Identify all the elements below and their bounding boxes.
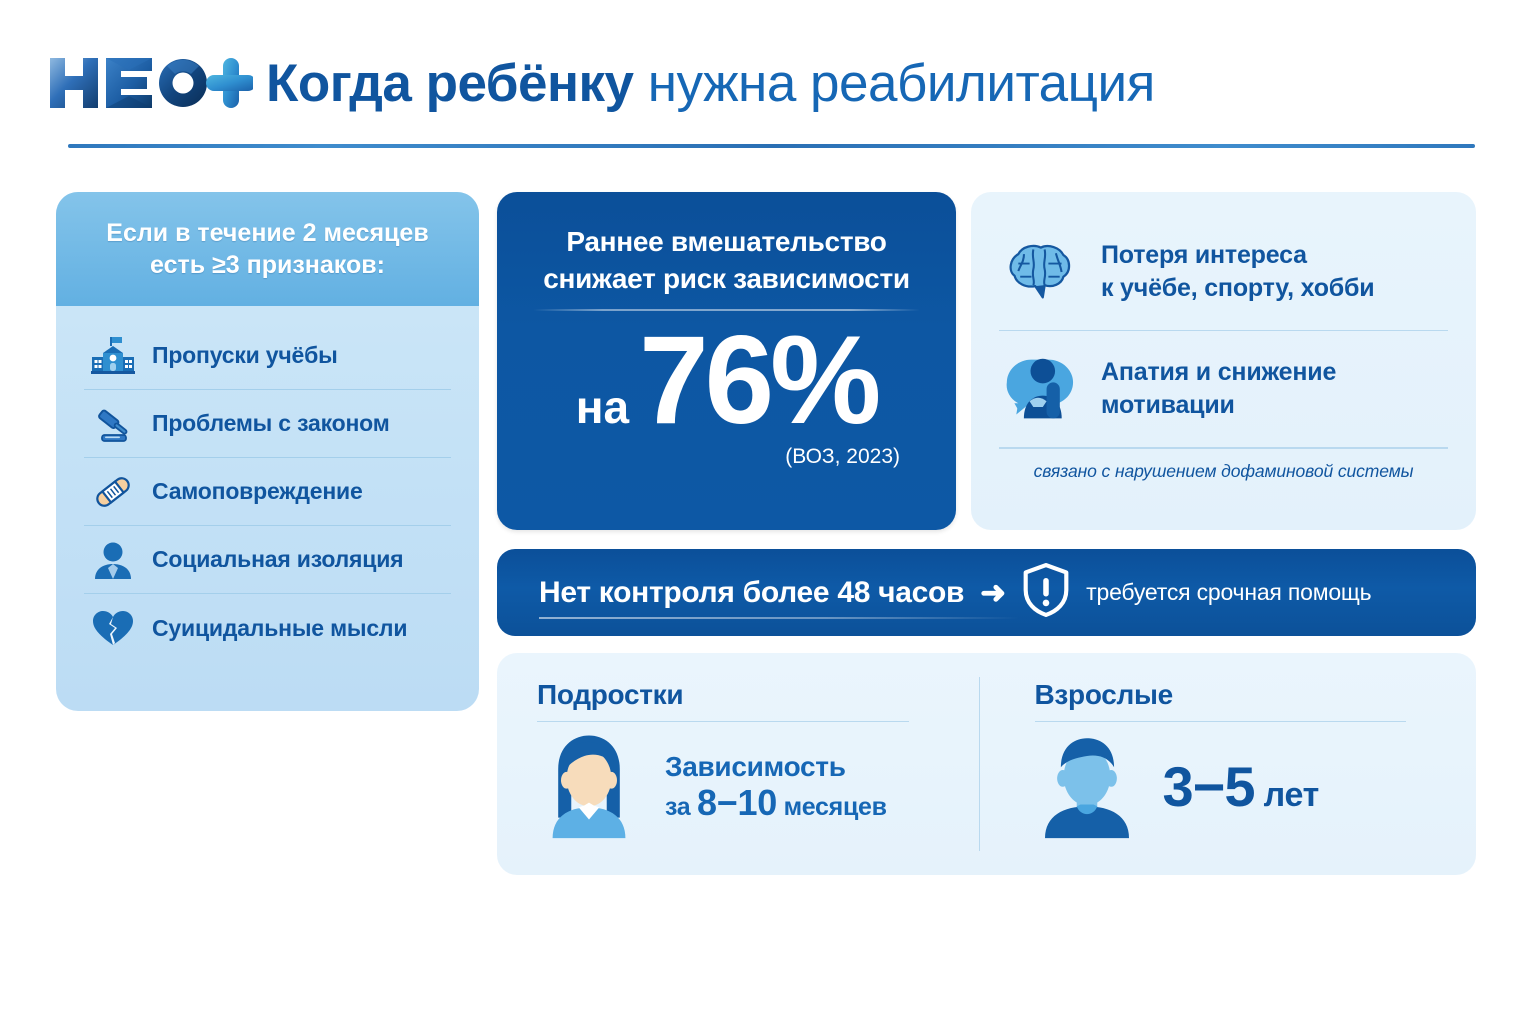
broken-heart-icon bbox=[88, 605, 138, 651]
infographic-root: Когда ребёнку нужна реабилитация Если в … bbox=[0, 0, 1536, 1024]
page-title: Когда ребёнку нужна реабилитация bbox=[266, 54, 1155, 114]
adults-unit: лет bbox=[1255, 776, 1320, 814]
list-item-label: Социальная изоляция bbox=[152, 546, 403, 573]
brain-icon bbox=[997, 241, 1081, 303]
alert-sub-text: требуется срочная помощь bbox=[1086, 579, 1371, 606]
teens-text: Зависимость за 8−10 месяцев bbox=[665, 749, 887, 825]
teens-divider bbox=[537, 721, 909, 722]
statistic-prefix: на bbox=[576, 380, 629, 434]
page-title-light: нужна реабилитация bbox=[634, 54, 1155, 113]
adults-text: 3−5 лет bbox=[1163, 754, 1320, 819]
teen-girl-avatar bbox=[537, 728, 647, 845]
symptoms-divider bbox=[999, 447, 1448, 448]
page-title-bold: Когда ребёнку bbox=[266, 54, 634, 113]
statistic-title: Раннее вмешательство снижает риск зависи… bbox=[497, 223, 956, 297]
statistic-value-row: на 76% bbox=[497, 321, 956, 441]
age-comparison-panel: Подростки Зависимость bbox=[497, 653, 1476, 875]
list-item-label: Самоповреждение bbox=[152, 478, 363, 505]
adults-column: Взрослые 3−5 лет bbox=[979, 653, 1477, 875]
alert-main-text: Нет контроля более 48 часов bbox=[539, 576, 964, 610]
symptom-line1: Апатия и снижение bbox=[1101, 356, 1336, 389]
teens-body: Зависимость за 8−10 месяцев bbox=[537, 728, 949, 845]
neo-plus-logo bbox=[48, 52, 253, 114]
criteria-panel-header: Если в течение 2 месяцев есть ≥3 признак… bbox=[56, 192, 479, 306]
adults-divider bbox=[1035, 721, 1407, 722]
bandage-icon bbox=[88, 469, 138, 515]
teens-duration-unit: месяцев bbox=[777, 793, 887, 821]
list-item[interactable]: Пропуски учёбы bbox=[84, 322, 451, 390]
criteria-panel: Если в течение 2 месяцев есть ≥3 признак… bbox=[56, 192, 479, 711]
school-icon bbox=[88, 333, 138, 379]
statistic-panel: Раннее вмешательство снижает риск зависи… bbox=[497, 192, 956, 530]
adults-body: 3−5 лет bbox=[1035, 728, 1447, 845]
urgent-alert-bar: Нет контроля более 48 часов ➜ требуется … bbox=[497, 549, 1476, 636]
symptoms-divider bbox=[999, 330, 1448, 331]
teens-duration-value: 8−10 bbox=[697, 782, 777, 823]
symptom-line2: мотивации bbox=[1101, 389, 1336, 422]
adults-value: 3−5 bbox=[1163, 755, 1255, 818]
symptom-row[interactable]: Апатия и снижение мотивации bbox=[997, 335, 1450, 443]
header: Когда ребёнку нужна реабилитация bbox=[0, 0, 1536, 150]
list-item-label: Суицидальные мысли bbox=[152, 615, 407, 642]
symptom-line2: к учёбе, спорту, хобби bbox=[1101, 272, 1374, 305]
lone-person-icon bbox=[88, 537, 138, 583]
header-divider bbox=[68, 144, 1475, 148]
statistic-value: 76% bbox=[639, 321, 877, 441]
adults-heading: Взрослые bbox=[1035, 679, 1447, 711]
statistic-title-line1: Раннее вмешательство bbox=[497, 223, 956, 260]
shield-alert-icon bbox=[1022, 562, 1070, 623]
list-item[interactable]: Самоповреждение bbox=[84, 458, 451, 526]
list-item[interactable]: Суицидальные мысли bbox=[84, 594, 451, 662]
symptom-text: Потеря интереса к учёбе, спорту, хобби bbox=[1101, 239, 1374, 305]
teens-duration: за 8−10 месяцев bbox=[665, 785, 887, 825]
statistic-title-line2: снижает риск зависимости bbox=[497, 260, 956, 297]
symptom-text: Апатия и снижение мотивации bbox=[1101, 356, 1336, 422]
teens-heading: Подростки bbox=[537, 679, 949, 711]
symptoms-panel: Потеря интереса к учёбе, спорту, хобби А… bbox=[971, 192, 1476, 530]
alert-underline bbox=[539, 617, 1019, 619]
criteria-list: Пропуски учёбы Проблемы с законом bbox=[56, 306, 479, 662]
teens-column: Подростки Зависимость bbox=[497, 653, 979, 875]
list-item-label: Проблемы с законом bbox=[152, 410, 390, 437]
teens-text-small: Зависимость bbox=[665, 749, 887, 785]
list-item[interactable]: Проблемы с законом bbox=[84, 390, 451, 458]
adult-man-avatar bbox=[1035, 728, 1145, 845]
gavel-icon bbox=[88, 401, 138, 447]
apathy-icon bbox=[997, 354, 1081, 424]
criteria-header-line1: Если в течение 2 месяцев bbox=[106, 217, 428, 249]
symptom-row[interactable]: Потеря интереса к учёбе, спорту, хобби bbox=[997, 218, 1450, 326]
symptoms-note: связано с нарушением дофаминовой системы bbox=[997, 461, 1450, 482]
list-item[interactable]: Социальная изоляция bbox=[84, 526, 451, 594]
list-item-label: Пропуски учёбы bbox=[152, 342, 338, 369]
arrow-right-icon: ➜ bbox=[980, 577, 1006, 608]
teens-duration-prefix: за bbox=[665, 793, 697, 821]
criteria-header-line2: есть ≥3 признаков: bbox=[150, 249, 385, 281]
symptom-line1: Потеря интереса bbox=[1101, 239, 1374, 272]
